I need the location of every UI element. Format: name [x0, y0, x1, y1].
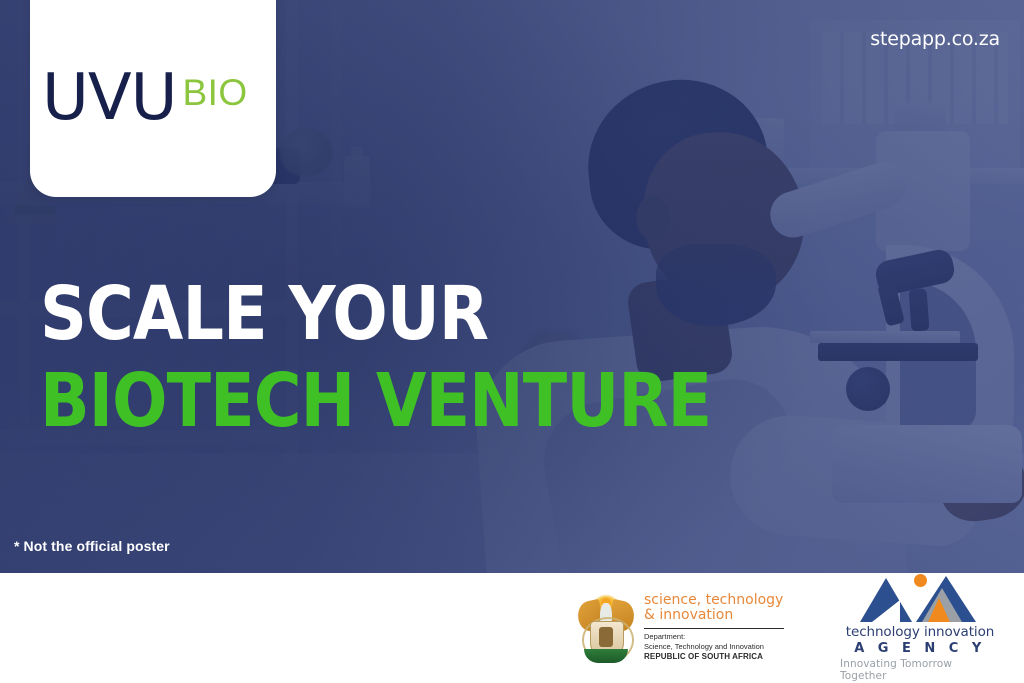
brand-logo-card[interactable]: UVU BIO — [30, 0, 276, 197]
brand-logo: UVU BIO — [30, 70, 248, 128]
dsi-text-block: science, technology & innovation Departm… — [644, 593, 784, 663]
headline-line-1: SCALE YOUR — [40, 278, 711, 351]
dsi-sub-line-3: REPUBLIC OF SOUTH AFRICA — [644, 652, 784, 663]
logo-text-bio: BIO — [182, 72, 247, 114]
headline-line-2: BIOTECH VENTURE — [40, 365, 711, 438]
disclaimer-note: * Not the official poster — [14, 538, 170, 554]
tia-name: technology innovation — [846, 624, 994, 640]
tia-tagline: Innovating Tomorrow Together — [840, 658, 1000, 682]
tia-agency-label: A G E N C Y — [854, 641, 986, 656]
dsi-title-line-2: & innovation — [644, 608, 784, 624]
partner-logo-footer: science, technology & innovation Departm… — [0, 573, 1024, 683]
site-url-link[interactable]: stepapp.co.za — [870, 28, 1000, 50]
dsi-divider — [644, 628, 784, 629]
dsi-title-line-1: science, technology — [644, 593, 784, 609]
partner-logo-tia: technology innovation A G E N C Y Innova… — [840, 574, 1000, 682]
poster-canvas: UVU BIO stepapp.co.za SCALE YOUR BIOTECH… — [0, 0, 1024, 683]
headline-block: SCALE YOUR BIOTECH VENTURE — [40, 278, 803, 437]
dsi-sub-line-1: Department: — [644, 632, 784, 642]
south-african-coat-of-arms-icon — [578, 591, 634, 665]
partner-logo-dsi: science, technology & innovation Departm… — [578, 591, 784, 665]
logo-text-uvu: UVU — [42, 70, 176, 128]
tia-chevron-mark-icon — [860, 574, 980, 622]
hero-section: UVU BIO stepapp.co.za SCALE YOUR BIOTECH… — [0, 0, 1024, 573]
dsi-sub-line-2: Science, Technology and Innovation — [644, 642, 784, 652]
